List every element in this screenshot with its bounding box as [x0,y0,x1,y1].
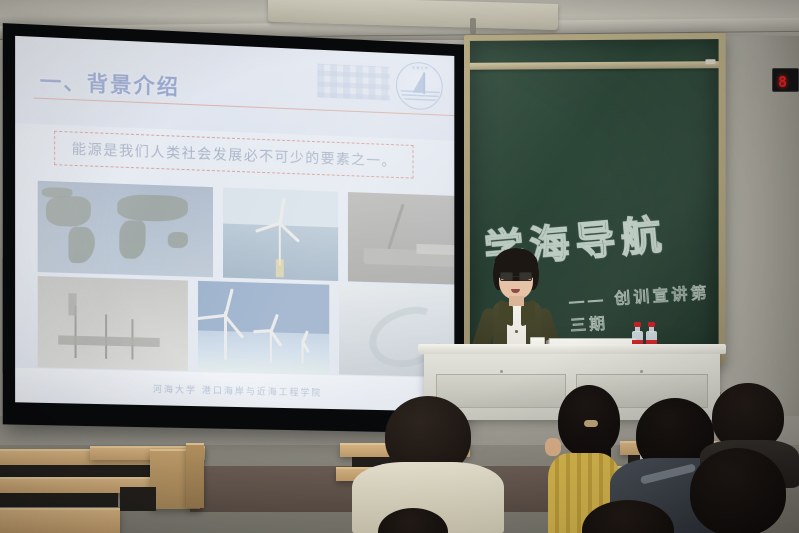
glasses-icon [500,272,532,281]
slide-header: 一、背景介绍 河海大学 [15,36,454,141]
podium-panel-left [436,374,566,408]
led-display: 8 [772,68,799,92]
slide-image-wind-farm [198,281,329,374]
slide-image-offshore-crane-vessel [348,192,454,285]
desk-row-front-left [0,508,120,533]
slide-image-offshore-wind-turbine [223,187,338,281]
slide-footer-text: 河海大学 港口海岸与近海工程学院 [153,382,323,399]
slide-image-world-map [38,181,213,277]
emblem-ring-text: 河海大学 [397,64,443,71]
classroom-scene: 8 一、背景介绍 河海大学 能源是我们人类社会发展必不可少的要素之一。 [0,0,799,533]
led-display-value: 8 [778,73,787,91]
projection-screen: 一、背景介绍 河海大学 能源是我们人类社会发展必不可少的要素之一。 [3,23,464,433]
hohai-university-emblem-icon: 河海大学 [396,61,443,110]
hair-tie [584,420,598,427]
projection-screen-surface: 一、背景介绍 河海大学 能源是我们人类社会发展必不可少的要素之一。 [15,36,454,412]
slide-title: 一、背景介绍 [40,65,180,101]
presenter-neck [509,296,524,306]
slide-quote-box: 能源是我们人类社会发展必不可少的要素之一。 [54,131,413,179]
audience-hand [545,438,561,456]
slide-image-oil-platform [38,276,188,371]
desk-edge [186,443,204,508]
roller-bracket [470,18,476,34]
blackboard-clip [705,59,715,64]
slide-title-rule [34,98,455,117]
slide-header-decoration [317,64,390,101]
slide-quote-text: 能源是我们人类社会发展必不可少的要素之一。 [72,139,397,171]
podium-top-surface [418,344,726,354]
slide-image-row-bottom [38,276,455,378]
audience-head-foreground-right [690,448,786,533]
presentation-slide: 一、背景介绍 河海大学 能源是我们人类社会发展必不可少的要素之一。 [15,36,454,412]
slide-image-row-top [38,181,455,286]
